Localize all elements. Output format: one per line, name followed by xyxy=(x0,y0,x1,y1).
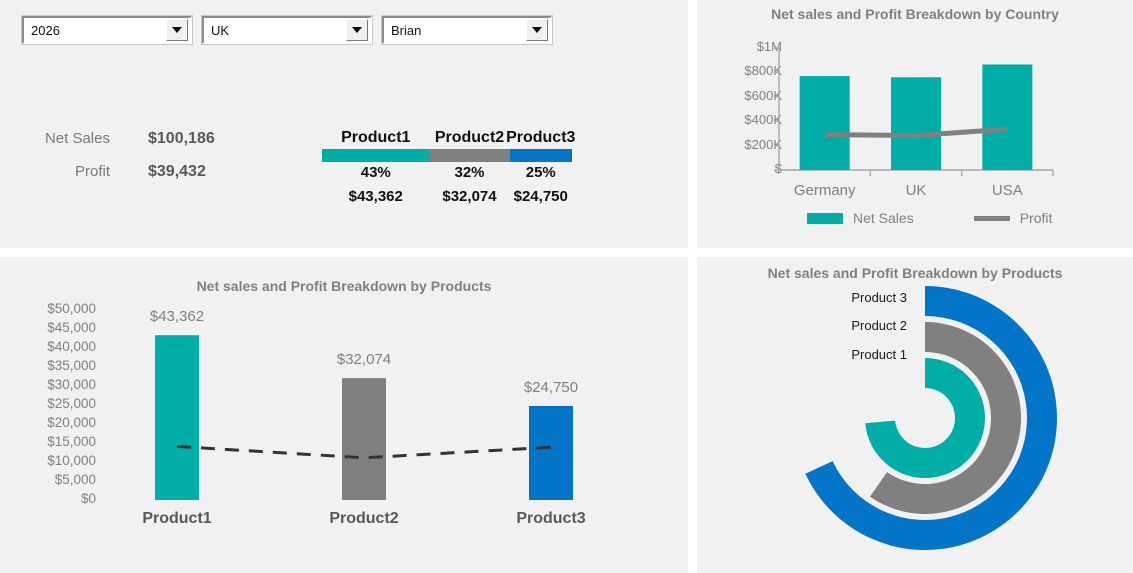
share-percent: 25% xyxy=(481,164,601,181)
country-chart-legend: Net SalesProfit xyxy=(807,210,1052,226)
net-sales-value: $100,186 xyxy=(148,130,215,148)
share-amount: $24,750 xyxy=(481,188,601,205)
radial-series-label: Product 3 xyxy=(787,290,907,305)
radial-series-label: Product 2 xyxy=(787,318,907,333)
country-dropdown-value: UK xyxy=(204,24,346,37)
year-dropdown[interactable]: 2026 xyxy=(22,16,192,44)
products-radial-chart-panel: Net sales and Profit Breakdown by Produc… xyxy=(697,257,1133,573)
products-bar-chart-panel: Net sales and Profit Breakdown by Produc… xyxy=(0,257,688,573)
profit-label: Profit xyxy=(0,163,110,180)
product-share-stacked-bar xyxy=(322,149,572,162)
profit-value: $39,432 xyxy=(148,163,206,181)
share-product-label: Product3 xyxy=(481,129,601,147)
share-segment-product2 xyxy=(430,149,510,162)
country-dropdown[interactable]: UK xyxy=(202,16,372,44)
person-dropdown[interactable]: Brian xyxy=(382,16,552,44)
radial-series-label: Product 1 xyxy=(787,347,907,362)
person-dropdown-value: Brian xyxy=(384,24,526,37)
share-segment-product3 xyxy=(510,149,573,162)
products-radial-chart-plot: Product 1Product 2Product 3 xyxy=(697,257,1133,573)
products-bar-chart-plot: $0$5,000$10,000$15,000$20,000$25,000$30,… xyxy=(0,257,688,573)
net-sales-label: Net Sales xyxy=(0,130,110,147)
country-chart-plot: $$200K$400K$600K$800K$1MGermanyUKUSANet … xyxy=(697,0,1133,248)
legend-swatch-net-sales xyxy=(807,213,843,224)
country-chart-panel: Net sales and Profit Breakdown by Countr… xyxy=(697,0,1133,248)
legend-label-net-sales: Net Sales xyxy=(853,210,914,226)
chevron-down-icon[interactable] xyxy=(346,19,368,41)
chevron-down-icon[interactable] xyxy=(166,19,188,41)
legend-label-profit: Profit xyxy=(1020,210,1053,226)
chevron-down-icon[interactable] xyxy=(526,19,548,41)
year-dropdown-value: 2026 xyxy=(24,24,166,37)
share-segment-product1 xyxy=(322,149,430,162)
dashboard: 2026 UK Brian Net Sales $100,186 Profit … xyxy=(0,0,1133,573)
legend-swatch-profit xyxy=(974,216,1010,221)
filters-kpi-panel: 2026 UK Brian Net Sales $100,186 Profit … xyxy=(0,0,688,248)
